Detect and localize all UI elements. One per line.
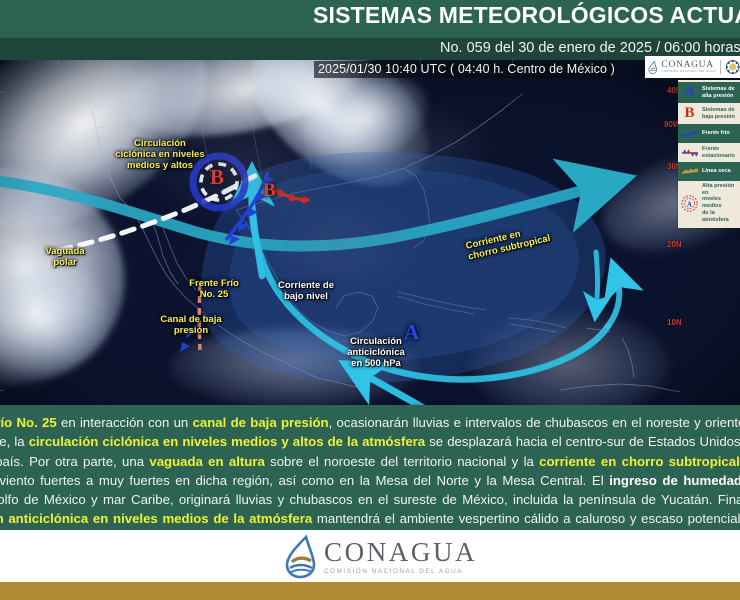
grid-line-lat-equator xyxy=(0,390,740,391)
label-low-level-current: Corriente de bajo nivel xyxy=(268,280,344,302)
legend-label-dry-line: Línea seca xyxy=(702,168,731,175)
cloud-band-tropical xyxy=(170,328,420,405)
legend-label-low-pressure: Sistemas de baja presión xyxy=(702,107,735,120)
coastline-overlay xyxy=(0,60,740,405)
grid-line-lon-90w xyxy=(328,60,329,405)
grid-line-lon-110w xyxy=(146,60,147,405)
grid-line-lon-120w xyxy=(58,60,59,405)
forecast-text-panel: El frente frío No. 25 en interacción con… xyxy=(0,405,740,530)
night-lights-haze xyxy=(120,80,540,380)
grid-line-lat-30n xyxy=(0,168,740,169)
bulletin-number-date: No. 059 del 30 de enero de 2025 / 06:00 … xyxy=(440,40,740,56)
map-timestamp: 2025/01/30 10:40 UTC ( 04:40 h. Centro d… xyxy=(314,61,619,78)
logo-divider xyxy=(720,60,721,74)
legend-item-low-pressure: B Sistemas de baja presión xyxy=(678,103,740,124)
forecast-paragraph: El frente frío No. 25 en interacción con… xyxy=(0,413,740,530)
grid-line-lat-20n xyxy=(0,246,740,247)
grid-line-lat-10n xyxy=(0,324,740,325)
dry-line-icon xyxy=(680,166,699,177)
legend-item-mid-level-high: A Alta presión en niveles medios de la a… xyxy=(678,181,740,225)
footer-conagua-logo: CONAGUA COMISIÓN NACIONAL DEL AGUA xyxy=(283,535,477,579)
cloud-mass-southwest-pacific xyxy=(0,256,110,376)
label-anticyclonic-circulation-500hpa: Circulación anticiclónica en 500 hPa xyxy=(334,336,418,370)
footer-gold-bar xyxy=(0,582,740,600)
label-cyclonic-circulation: Circulación ciclónica en niveles medios … xyxy=(104,138,216,172)
grid-line-lon-70w xyxy=(512,60,513,405)
low-pressure-symbol-northwest: B xyxy=(210,165,224,190)
footer-brand-tagline: COMISIÓN NACIONAL DEL AGUA xyxy=(324,569,477,575)
weather-bulletin-page: SISTEMAS METEOROLÓGICOS ACTUALES No. 059… xyxy=(0,0,740,600)
cloud-mass-gulf xyxy=(289,60,440,181)
legend-label-high-pressure: Sistemas de alta presión xyxy=(702,86,735,99)
footer-wordmark: CONAGUA COMISIÓN NACIONAL DEL AGUA xyxy=(324,539,477,575)
label-cold-front-25: Frente Frío No. 25 xyxy=(182,278,246,300)
moisture-shading-region xyxy=(0,60,740,405)
header-conagua-wordmark: CONAGUA COMISIÓN NACIONAL DEL AGUA xyxy=(661,61,715,73)
low-pressure-symbol-texas: B xyxy=(263,180,276,202)
label-polar-trough: Vaguada polar xyxy=(34,246,96,268)
label-low-pressure-channel: Canal de baja presión xyxy=(148,314,234,336)
stationary-front-icon xyxy=(680,147,699,158)
grid-label-10n: 10N xyxy=(667,318,682,327)
page-title: SISTEMAS METEOROLÓGICOS ACTUALES xyxy=(313,2,740,29)
cold-front-icon xyxy=(680,128,699,139)
smn-emblem-icon xyxy=(725,58,740,76)
cloud-mass-northwest-pacific xyxy=(0,60,246,275)
legend-label-mid-level-high: Alta presión en niveles medios de la atm… xyxy=(702,183,738,223)
satellite-map[interactable]: 40N 30N 20N 10N 90W xyxy=(0,60,740,405)
legend-item-high-pressure: A Sistemas de alta presión xyxy=(678,82,740,103)
letter-A-icon: A xyxy=(680,84,699,101)
grid-label-20n: 20N xyxy=(667,240,682,249)
letter-B-icon: B xyxy=(680,105,699,122)
grid-line-lon-80w xyxy=(420,60,421,405)
grid-line-lat-40n xyxy=(0,92,740,93)
legend-item-cold-front: Frente frío xyxy=(678,124,740,143)
svg-text:A: A xyxy=(687,201,692,208)
cloud-mass-west-pacific xyxy=(0,138,153,405)
legend-item-stationary-front: Frente estacionario xyxy=(678,143,740,162)
header-band: SISTEMAS METEOROLÓGICOS ACTUALES xyxy=(0,0,740,38)
subtropical-jet-stream-arrow xyxy=(0,60,740,405)
conagua-drop-icon xyxy=(283,535,317,579)
header-logo-strip: CONAGUA COMISIÓN NACIONAL DEL AGUA xyxy=(645,56,740,78)
map-vignette xyxy=(0,60,740,405)
grid-line-lon-100w xyxy=(236,60,237,405)
legend-label-stationary-front: Frente estacionario xyxy=(702,146,735,159)
cloud-mass-southeast xyxy=(470,310,670,405)
footer-brand-name: CONAGUA xyxy=(324,539,477,566)
legend-label-cold-front: Frente frío xyxy=(702,130,730,137)
cloud-mass-frontal xyxy=(224,60,456,217)
high-pressure-symbol-caribbean: A xyxy=(404,320,419,345)
map-legend: A Sistemas de alta presión B Sistemas de… xyxy=(678,80,740,228)
mid-level-high-icon: A xyxy=(680,195,699,212)
grid-line-lon-60w xyxy=(604,60,605,405)
legend-item-dry-line: Línea seca xyxy=(678,162,740,181)
conagua-drop-icon xyxy=(648,60,657,75)
subheader-band: No. 059 del 30 de enero de 2025 / 06:00 … xyxy=(0,38,740,60)
label-subtropical-jet-stream: Corriente en chorro subtropical xyxy=(465,219,564,262)
header-brand-tagline: COMISIÓN NACIONAL DEL AGUA xyxy=(661,70,715,73)
